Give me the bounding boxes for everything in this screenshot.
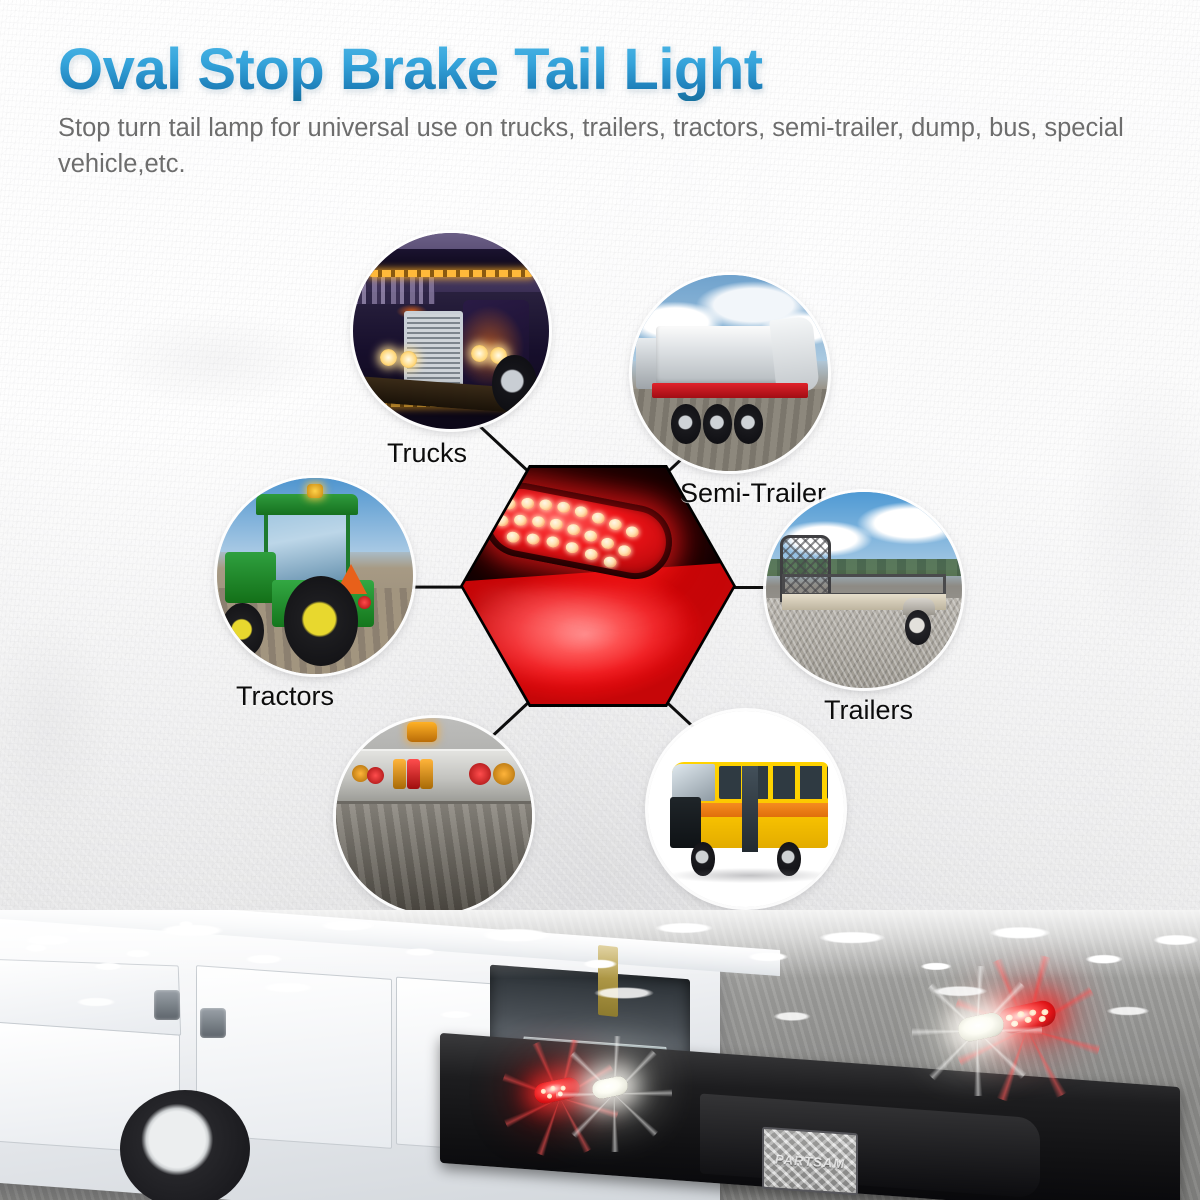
led-diode bbox=[1038, 1015, 1046, 1022]
photo-circle-tractors bbox=[217, 478, 413, 674]
led-diode bbox=[550, 1085, 556, 1091]
diagram-node-dump: Dump bbox=[336, 718, 532, 914]
rear-wheel bbox=[284, 576, 358, 666]
red-tail-light bbox=[358, 596, 371, 609]
diagram-node-tractors: Tractors bbox=[217, 478, 413, 674]
front-fascia bbox=[670, 797, 701, 848]
led-diode bbox=[547, 1093, 553, 1099]
trailer-tire bbox=[734, 404, 763, 443]
photo-circle-semi-trailer bbox=[632, 275, 828, 471]
undercarriage bbox=[336, 804, 532, 914]
diagram-node-trailers: Trailers bbox=[766, 492, 962, 688]
amber-bar-light bbox=[393, 759, 406, 789]
amber-beacon bbox=[307, 484, 323, 498]
node-label-trucks: Trucks bbox=[387, 438, 467, 469]
cab-roof bbox=[256, 494, 358, 516]
red-bar-light bbox=[407, 759, 420, 789]
trailer-tire bbox=[905, 610, 930, 645]
diagram-node-trucks: Trucks bbox=[353, 233, 549, 429]
utility-trailer-photo bbox=[766, 492, 962, 688]
semi-trailer-photo bbox=[632, 275, 828, 471]
windshield bbox=[672, 764, 715, 801]
headlight bbox=[400, 351, 417, 368]
chrome-grille bbox=[404, 311, 463, 389]
front-wheel bbox=[221, 603, 264, 658]
banner-header: Oval Stop Brake Tail Light Stop turn tai… bbox=[58, 40, 1158, 182]
truck-photo bbox=[353, 233, 549, 429]
bus-photo bbox=[648, 711, 844, 907]
led-diode bbox=[560, 1085, 566, 1091]
led-diode bbox=[1011, 1020, 1019, 1027]
node-label-tractors: Tractors bbox=[236, 681, 334, 712]
led-diode bbox=[1017, 1011, 1025, 1018]
photo-circle-bus bbox=[648, 711, 844, 907]
page-subtitle: Stop turn tail lamp for universal use on… bbox=[58, 110, 1156, 182]
tractor-photo bbox=[217, 478, 413, 674]
product-banner: Oval Stop Brake Tail Light Stop turn tai… bbox=[0, 0, 1200, 1200]
led-diode bbox=[1024, 1016, 1032, 1023]
diagram-node-bus: Bus bbox=[648, 711, 844, 907]
passenger-door bbox=[742, 766, 758, 852]
trailer-tire bbox=[703, 404, 732, 443]
headlight bbox=[380, 349, 397, 366]
amber-tail-light bbox=[493, 763, 515, 785]
amber-beacon bbox=[407, 722, 437, 742]
mounting-bracket bbox=[598, 945, 618, 1017]
door-latch bbox=[200, 1008, 226, 1038]
product-glow-highlight bbox=[474, 586, 690, 685]
photo-circle-trucks bbox=[353, 233, 549, 429]
side-rail bbox=[782, 574, 947, 596]
page-title: Oval Stop Brake Tail Light bbox=[58, 40, 1158, 101]
diagram-node-semi-trailer: Semi-Trailer bbox=[632, 275, 828, 471]
ground-shadow bbox=[668, 868, 833, 884]
front-wheel bbox=[492, 355, 537, 414]
badge-text: PARTSAM bbox=[775, 1151, 845, 1171]
photo-circle-trailers bbox=[766, 492, 962, 688]
photo-circle-dump bbox=[336, 718, 532, 914]
application-diagram: Trucks Semi-Trailer bbox=[0, 210, 1200, 950]
led-diode bbox=[540, 1088, 546, 1094]
dump-truck-photo bbox=[336, 718, 532, 914]
red-chassis bbox=[652, 383, 809, 399]
connector-line-trucks bbox=[476, 423, 530, 474]
diamond-plate-badge: PARTSAM bbox=[762, 1127, 858, 1196]
bottom-application-photo bbox=[0, 910, 1200, 1200]
amber-marker-light bbox=[352, 765, 369, 782]
amber-bar-light bbox=[420, 759, 433, 789]
trailer-tire bbox=[671, 404, 700, 443]
door-latch bbox=[154, 990, 180, 1020]
rear-wheel bbox=[120, 1090, 250, 1200]
headlight bbox=[471, 345, 488, 362]
led-diode bbox=[1029, 1009, 1037, 1016]
window-row bbox=[719, 766, 829, 799]
led-diode bbox=[557, 1091, 563, 1097]
tractor-hood bbox=[225, 552, 276, 603]
